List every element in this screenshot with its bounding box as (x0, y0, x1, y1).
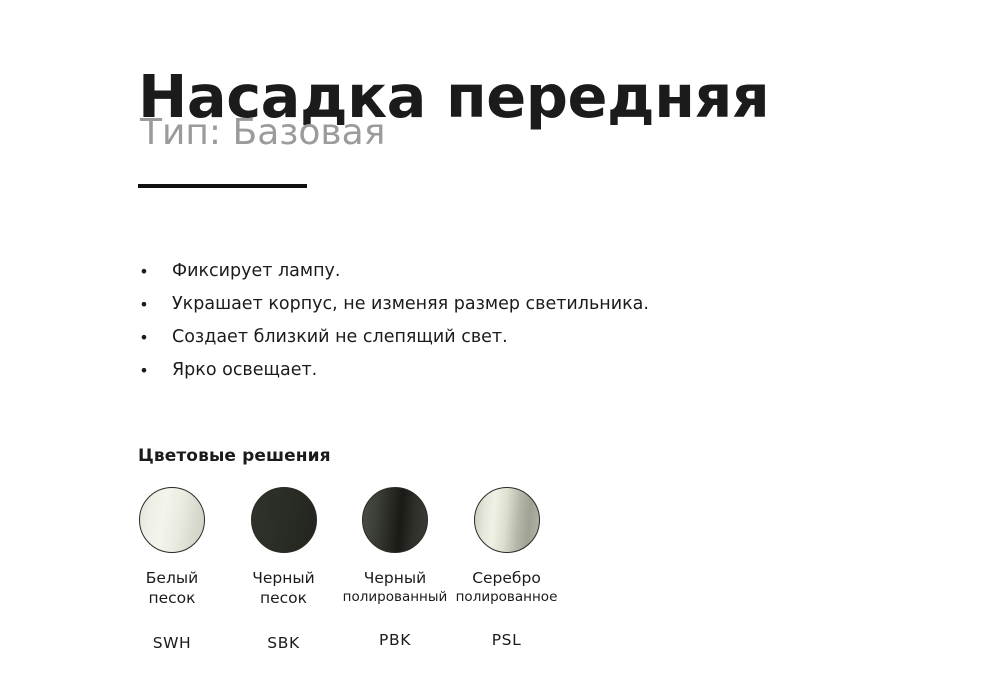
feature-text: Ярко освещает. (172, 354, 317, 387)
title-divider (138, 184, 307, 188)
list-item: • Фиксирует лампу. (138, 255, 838, 288)
color-name-line-2: полированное (439, 589, 575, 606)
color-swatch-disc[interactable] (139, 487, 205, 553)
list-item: • Создает близкий не слепящий свет. (138, 321, 838, 354)
bullet-icon: • (139, 288, 149, 321)
color-swatch-option[interactable]: Серебро полированное PSL (439, 487, 575, 649)
feature-text: Создает близкий не слепящий свет. (172, 321, 508, 354)
product-spec-page: Насадка передняя Тип: Базовая • Фиксируе… (0, 0, 1000, 700)
list-item: • Украшает корпус, не изменяя размер све… (138, 288, 838, 321)
color-swatch-disc[interactable] (362, 487, 428, 553)
page-subtitle: Тип: Базовая (140, 113, 385, 153)
color-swatch-disc[interactable] (251, 487, 317, 553)
color-swatch-name: Серебро полированное (439, 569, 575, 606)
list-item: • Ярко освещает. (138, 354, 838, 387)
color-options-heading: Цветовые решения (138, 446, 331, 466)
color-swatch-disc[interactable] (474, 487, 540, 553)
bullet-icon: • (139, 321, 149, 354)
color-swatch-code: PSL (439, 631, 575, 649)
color-name-line-1: Черный (364, 569, 426, 587)
feature-text: Украшает корпус, не изменяя размер свети… (172, 288, 649, 321)
feature-list: • Фиксирует лампу. • Украшает корпус, не… (138, 255, 838, 387)
color-name-line-1: Черный (252, 569, 314, 587)
feature-text: Фиксирует лампу. (172, 255, 340, 288)
bullet-icon: • (139, 255, 149, 288)
content-area: Насадка передняя Тип: Базовая • Фиксируе… (138, 0, 958, 700)
bullet-icon: • (139, 354, 149, 387)
color-name-line-1: Белый (146, 569, 198, 587)
color-name-line-1: Серебро (472, 569, 541, 587)
